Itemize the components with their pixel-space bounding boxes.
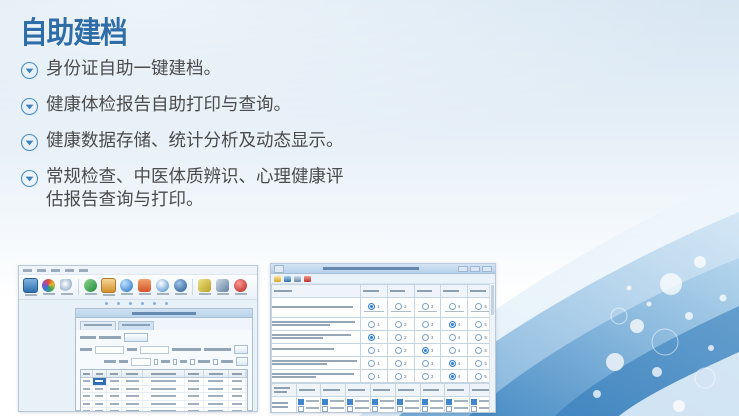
radio-option-5[interactable]	[475, 360, 482, 367]
option-number: 1	[377, 361, 380, 366]
option-cell[interactable]: 3	[414, 318, 441, 331]
new-icon[interactable]	[274, 276, 281, 282]
chevron-down-circle-icon	[20, 97, 39, 116]
matrix-column-header	[321, 384, 346, 397]
option-cell[interactable]: 3	[414, 331, 441, 344]
table-row[interactable]	[81, 378, 247, 386]
app-icon	[274, 265, 284, 273]
globe-blue-icon	[120, 279, 133, 292]
menu-item[interactable]	[37, 269, 46, 272]
toolbar-button-bar-chart[interactable]	[136, 279, 153, 295]
radio-option-2[interactable]	[395, 360, 402, 367]
option-cell[interactable]: 2	[387, 344, 414, 357]
radio-option-3[interactable]	[422, 334, 429, 341]
form-area	[76, 330, 252, 412]
radio-no[interactable]	[347, 406, 353, 412]
toolbar-button-card-reader[interactable]	[22, 278, 39, 296]
chevron-down-circle-icon	[20, 133, 39, 152]
menu-item[interactable]	[79, 269, 88, 272]
matrix-cell[interactable]	[420, 397, 445, 414]
checkbox[interactable]	[213, 359, 218, 365]
workspace-dots	[105, 302, 168, 305]
option-number: 1	[377, 335, 380, 340]
minimize-button[interactable]	[458, 266, 468, 272]
option-cell[interactable]: 1	[361, 318, 388, 331]
field-label	[119, 360, 127, 363]
option-number: 2	[404, 322, 407, 327]
question-row[interactable]: 1 2 3 4 5	[272, 318, 495, 331]
radio-option-2[interactable]	[395, 303, 402, 310]
option-number: 5	[484, 335, 487, 340]
question-table: 1 2 3 4 5	[271, 284, 495, 383]
option-cell[interactable]: 2	[387, 298, 414, 318]
screenshot-management-system[interactable]	[18, 265, 258, 412]
table-header-row	[272, 285, 495, 298]
column-header-index[interactable]	[81, 370, 93, 377]
tools-icon	[216, 279, 229, 292]
question-row[interactable]: 1 2 3 4 5	[272, 331, 495, 344]
field-label	[127, 348, 138, 351]
list-item-label: 健康体检报告自助打印与查询。	[46, 94, 291, 117]
radio-option-4[interactable]	[449, 334, 456, 341]
tab-bar[interactable]	[76, 318, 252, 330]
checkbox[interactable]	[154, 359, 159, 365]
pager-arrows[interactable]	[172, 348, 202, 351]
option-cell[interactable]: 4	[441, 357, 468, 370]
data-grid[interactable]	[80, 369, 248, 412]
matrix-column-header	[420, 384, 445, 397]
matrix-column-header	[395, 384, 420, 397]
list-item-label: 身份证自助一键建档。	[46, 58, 221, 81]
column-header-question	[272, 285, 361, 298]
radio-option-3[interactable]	[422, 347, 429, 354]
option-cell[interactable]: 2	[387, 357, 414, 370]
table-row[interactable]	[81, 386, 247, 394]
tab-health-record[interactable]	[118, 321, 154, 330]
list-item-label: 常规检查、中医体质辨识、心理健康评 估报告查询与打印。	[46, 166, 344, 212]
option-number: 2	[404, 361, 407, 366]
delete-icon[interactable]	[304, 276, 311, 282]
column-header-note[interactable]	[229, 370, 246, 377]
option-number: 5	[484, 322, 487, 327]
feature-list: 身份证自助一键建档。 健康体检报告自助打印与查询。 健康数据存储、统计分析及动态…	[20, 58, 490, 225]
option-number: 1	[377, 322, 380, 327]
field-label	[204, 348, 230, 351]
child-window-titlebar[interactable]	[76, 309, 252, 318]
radio-yes[interactable]	[347, 399, 353, 405]
radio-option-3[interactable]	[422, 321, 429, 328]
chevron-down-circle-icon	[20, 169, 39, 188]
question-text	[272, 318, 361, 331]
option-number: 5	[484, 374, 487, 379]
field-label	[104, 360, 116, 363]
option-number: 3	[431, 361, 434, 366]
option-cell[interactable]: 4	[441, 344, 468, 357]
option-number: 5	[484, 361, 487, 366]
option-number: 1	[377, 374, 380, 379]
column-header-name[interactable]	[107, 370, 123, 377]
page-title: 自助建档	[20, 18, 127, 50]
checkbox-label	[180, 360, 187, 363]
option-number: 4	[458, 348, 461, 353]
option-number: 2	[404, 304, 407, 309]
table-row[interactable]	[81, 393, 247, 401]
radio-no[interactable]	[298, 406, 304, 412]
option-cell[interactable]: 3	[414, 298, 441, 318]
refresh-button[interactable]	[234, 345, 248, 354]
radio-yes[interactable]	[446, 399, 452, 405]
document-icon	[101, 278, 116, 293]
print-icon[interactable]	[294, 276, 301, 282]
option-number: 4	[458, 361, 461, 366]
option-cell[interactable]: 3	[414, 357, 441, 370]
question-text	[272, 370, 361, 383]
radio-yes[interactable]	[471, 399, 477, 405]
window-buttons[interactable]	[458, 266, 492, 272]
list-item: 身份证自助一键建档。	[20, 58, 490, 81]
chevron-down-circle-icon	[20, 61, 39, 80]
screenshot-assessment-questionnaire[interactable]: 1 2 3 4 5	[270, 263, 496, 413]
column-header-phone[interactable]	[204, 370, 229, 377]
option-cell[interactable]: 4	[441, 318, 468, 331]
option-cell[interactable]: 4	[441, 331, 468, 344]
matrix-header-row	[272, 384, 495, 397]
matrix-cell[interactable]	[346, 397, 371, 414]
question-row[interactable]: 1 2 3 4 5	[272, 344, 495, 357]
option-number: 4	[458, 335, 461, 340]
radio-option-4[interactable]	[449, 360, 456, 367]
checkbox-label	[161, 360, 169, 363]
radio-yes[interactable]	[298, 399, 304, 405]
matrix-column-header	[296, 384, 321, 397]
option-number: 1	[377, 304, 380, 309]
questionnaire-body[interactable]: 1 2 3 4 5	[271, 284, 495, 413]
color-wheel-icon	[42, 279, 55, 292]
matrix-column-header	[370, 384, 395, 397]
toolbar-button-sphere-green[interactable]	[82, 279, 99, 295]
radio-option-1[interactable]	[368, 373, 375, 380]
radio-option-4[interactable]	[449, 321, 456, 328]
radio-option-3[interactable]	[422, 303, 429, 310]
menu-item[interactable]	[65, 269, 74, 272]
questionnaire-toolbar[interactable]	[271, 274, 495, 284]
matrix-cell[interactable]	[296, 397, 321, 414]
radio-option-5[interactable]	[475, 303, 482, 310]
radio-option-2[interactable]	[395, 334, 402, 341]
option-cell[interactable]: 2	[387, 331, 414, 344]
pager-arrows[interactable]	[99, 336, 121, 339]
toolbar-button-tools[interactable]	[214, 279, 231, 295]
camera-icon	[156, 279, 169, 292]
option-number: 3	[431, 348, 434, 353]
matrix-radio-row[interactable]	[272, 397, 495, 414]
toolbar-button-clock[interactable]	[172, 279, 189, 295]
menu-item[interactable]	[51, 269, 60, 272]
radio-yes[interactable]	[422, 399, 428, 405]
list-item: 常规检查、中医体质辨识、心理健康评 估报告查询与打印。	[20, 166, 490, 212]
option-number: 3	[431, 322, 434, 327]
tab-basic-info[interactable]	[80, 321, 116, 330]
option-number: 1	[377, 348, 380, 353]
option-cell[interactable]: 4	[441, 370, 468, 383]
option-number: 4	[458, 322, 461, 327]
radio-option-4[interactable]	[449, 303, 456, 310]
column-header-option-2	[387, 285, 414, 298]
option-number: 3	[431, 335, 434, 340]
radio-option-4[interactable]	[449, 347, 456, 354]
menu-item[interactable]	[23, 269, 32, 272]
option-number: 3	[431, 374, 434, 379]
option-number: 2	[404, 374, 407, 379]
toolbar[interactable]	[19, 275, 257, 300]
text-input[interactable]	[131, 358, 151, 366]
toolbar-button-key[interactable]	[196, 279, 213, 295]
column-header-option-3	[414, 285, 441, 298]
option-cell[interactable]: 2	[387, 370, 414, 383]
radio-yes[interactable]	[397, 399, 403, 405]
radio-option-2[interactable]	[395, 321, 402, 328]
radio-yes[interactable]	[322, 399, 328, 405]
list-item: 健康体检报告自助打印与查询。	[20, 94, 490, 117]
menu-bar[interactable]	[19, 266, 257, 275]
radio-option-2[interactable]	[395, 347, 402, 354]
window-title	[323, 267, 419, 270]
question-row[interactable]: 1 2 3 4 5	[272, 357, 495, 370]
column-header-option-4	[441, 285, 468, 298]
option-sublabel	[388, 311, 414, 313]
filter-row-2[interactable]	[80, 357, 248, 366]
option-number: 3	[431, 304, 434, 309]
question-row[interactable]: 1 2 3 4 5	[272, 298, 495, 318]
close-button[interactable]	[482, 266, 492, 272]
option-cell[interactable]: 1	[361, 357, 388, 370]
radio-option-3[interactable]	[422, 373, 429, 380]
maximize-button[interactable]	[470, 266, 480, 272]
pager-label	[80, 336, 96, 339]
option-cell[interactable]: 3	[414, 344, 441, 357]
question-text	[272, 331, 361, 344]
clock-icon	[174, 279, 187, 292]
column-header-extra[interactable]	[246, 370, 247, 377]
radio-option-5[interactable]	[475, 347, 482, 354]
column-header-option-1	[361, 285, 388, 298]
table-row[interactable]	[81, 401, 247, 409]
sphere-green-icon	[84, 279, 97, 292]
search-icon	[60, 279, 73, 292]
toolbar-button-camera[interactable]	[154, 279, 171, 295]
question-text	[272, 298, 361, 318]
column-header-code[interactable]	[93, 370, 107, 377]
child-window[interactable]	[75, 308, 253, 411]
date-input[interactable]	[140, 346, 168, 354]
checkbox-label	[198, 360, 210, 363]
radio-no[interactable]	[446, 406, 452, 412]
option-cell[interactable]: 1	[361, 370, 388, 383]
toolbar-separator	[78, 279, 79, 295]
radio-option-3[interactable]	[422, 360, 429, 367]
list-item-label: 健康数据存储、统计分析及动态显示。	[46, 130, 344, 153]
radio-option-1[interactable]	[368, 347, 375, 354]
checkbox[interactable]	[173, 359, 178, 365]
radio-no[interactable]	[322, 406, 328, 412]
matrix-column-header	[445, 384, 470, 397]
card-reader-icon	[23, 278, 38, 293]
matrix-row-header	[272, 384, 297, 397]
radio-option-1[interactable]	[368, 321, 375, 328]
checkbox-label	[221, 360, 233, 363]
option-sublabel	[415, 311, 441, 313]
option-sublabel	[441, 311, 467, 313]
constitution-matrix[interactable]	[271, 383, 495, 413]
matrix-row-header	[272, 397, 297, 414]
column-header-birth[interactable]	[185, 370, 204, 377]
question-text	[272, 357, 361, 370]
table-row[interactable]	[81, 408, 247, 412]
column-header-idcard[interactable]	[122, 370, 143, 377]
toolbar-separator	[192, 279, 193, 295]
radio-no[interactable]	[397, 406, 403, 412]
option-number: 5	[484, 304, 487, 309]
power-icon	[234, 279, 247, 292]
radio-option-1[interactable]	[368, 334, 375, 341]
radio-option-1[interactable]	[368, 360, 375, 367]
slide-canvas: 自助建档 身份证自助一键建档。 健康体检报告自助打印与查询。	[0, 0, 739, 416]
radio-option-2[interactable]	[395, 373, 402, 380]
radio-option-5[interactable]	[475, 334, 482, 341]
checkbox[interactable]	[190, 359, 195, 365]
vertical-scrollbar[interactable]	[489, 284, 495, 413]
radio-no[interactable]	[422, 406, 428, 412]
key-icon	[198, 279, 211, 292]
filter-row-1[interactable]	[80, 345, 248, 354]
table-header-row	[81, 370, 247, 378]
export-button[interactable]	[236, 357, 248, 366]
window-titlebar[interactable]	[271, 264, 495, 274]
search-input[interactable]	[95, 346, 123, 354]
toolbar-button-globe[interactable]	[118, 279, 135, 295]
toolbar-button-document[interactable]	[100, 278, 117, 296]
option-sublabel	[361, 311, 387, 313]
radio-option-4[interactable]	[449, 373, 456, 380]
query-button[interactable]	[124, 333, 148, 342]
toolbar-button-color-wheel[interactable]	[40, 279, 57, 295]
option-number: 2	[404, 348, 407, 353]
option-number: 4	[458, 304, 461, 309]
save-icon[interactable]	[284, 276, 291, 282]
option-cell[interactable]: 3	[414, 370, 441, 383]
option-cell[interactable]: 4	[441, 298, 468, 318]
toolbar-button-search[interactable]	[58, 279, 75, 295]
question-text	[272, 344, 361, 357]
matrix-cell[interactable]	[370, 397, 395, 414]
option-cell[interactable]: 1	[361, 298, 388, 318]
column-header-gender[interactable]	[143, 370, 184, 377]
question-row[interactable]: 1 2 3 4 5	[272, 370, 495, 383]
matrix-cell[interactable]	[321, 397, 346, 414]
option-number: 4	[458, 374, 461, 379]
matrix-cell[interactable]	[395, 397, 420, 414]
bar-chart-icon	[138, 279, 151, 292]
radio-option-5[interactable]	[475, 321, 482, 328]
matrix-column-header	[346, 384, 371, 397]
list-item: 健康数据存储、统计分析及动态显示。	[20, 130, 490, 153]
radio-no[interactable]	[471, 406, 477, 412]
matrix-cell[interactable]	[445, 397, 470, 414]
option-number: 2	[404, 335, 407, 340]
radio-option-1[interactable]	[368, 303, 375, 310]
radio-option-5[interactable]	[475, 373, 482, 380]
field-label	[80, 348, 92, 351]
option-cell[interactable]: 2	[387, 318, 414, 331]
option-cell[interactable]: 1	[361, 331, 388, 344]
radio-no[interactable]	[372, 406, 378, 412]
option-cell[interactable]: 1	[361, 344, 388, 357]
app-workspace	[19, 300, 257, 412]
option-number: 5	[484, 348, 487, 353]
toolbar-button-power[interactable]	[232, 279, 249, 295]
pager-row[interactable]	[80, 333, 248, 342]
radio-yes[interactable]	[372, 399, 378, 405]
